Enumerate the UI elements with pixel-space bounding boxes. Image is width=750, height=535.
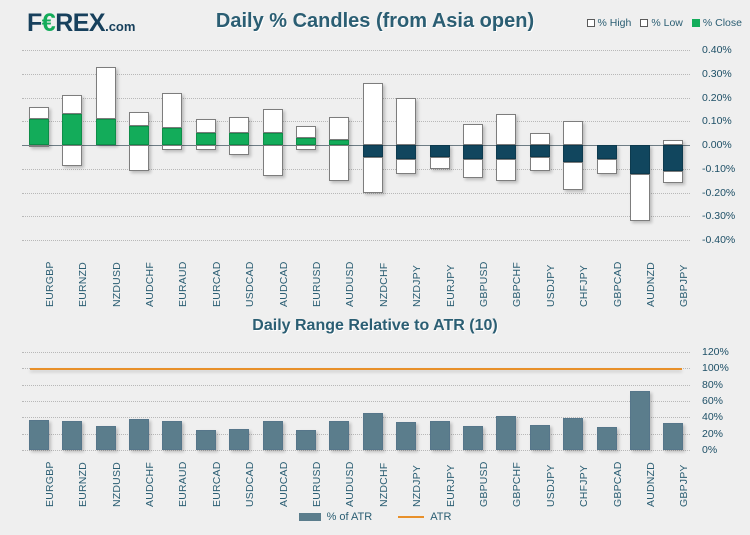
candle-close-body bbox=[597, 145, 617, 159]
candle-high-segment bbox=[496, 114, 516, 145]
candle-close-body bbox=[162, 128, 182, 145]
gridline bbox=[22, 240, 690, 241]
x-axis-label-eurjpy: EURJPY bbox=[445, 264, 457, 307]
x-axis-label-usdjpy: USDJPY bbox=[545, 464, 557, 507]
candle-high-segment bbox=[129, 112, 149, 126]
x-axis-label-nzdchf: NZDCHF bbox=[378, 263, 390, 307]
candle-low-segment bbox=[29, 145, 49, 147]
atr-bar-nzdchf bbox=[363, 413, 383, 450]
atr-bar-usdcad bbox=[229, 429, 249, 450]
candle-low-segment bbox=[463, 159, 483, 178]
candle-high-segment bbox=[196, 119, 216, 133]
candle-low-segment bbox=[630, 174, 650, 222]
atr-reference-line bbox=[30, 368, 682, 370]
y-axis-tick-label: 0.20% bbox=[702, 92, 732, 104]
atr-bar-nzdjpy bbox=[396, 422, 416, 450]
candle-close-body bbox=[229, 133, 249, 145]
candle-close-body bbox=[196, 133, 216, 145]
legend-label-pct-atr: % of ATR bbox=[327, 511, 373, 523]
candle-low-segment bbox=[196, 145, 216, 150]
y-axis-tick-label: -0.10% bbox=[702, 163, 735, 175]
candle-high-segment bbox=[263, 109, 283, 133]
legend-swatch-pct-atr-icon bbox=[299, 513, 321, 521]
atr-bar-audnzd bbox=[630, 391, 650, 450]
candle-high-segment bbox=[363, 83, 383, 145]
candle-close-body bbox=[496, 145, 516, 159]
candle-low-segment bbox=[129, 145, 149, 171]
legend-item-high: % High bbox=[587, 17, 632, 29]
y-axis-tick-label: 0.00% bbox=[702, 139, 732, 151]
candle-low-segment bbox=[597, 159, 617, 173]
candle-close-body bbox=[563, 145, 583, 162]
candle-high-segment bbox=[162, 93, 182, 129]
candle-close-body bbox=[430, 145, 450, 157]
candle-high-segment bbox=[530, 133, 550, 145]
x-axis-label-gbpjpy: GBPJPY bbox=[678, 464, 690, 507]
candle-low-segment bbox=[229, 145, 249, 155]
gridline bbox=[22, 401, 690, 402]
candle-low-segment bbox=[62, 145, 82, 166]
candle-nzdjpy bbox=[396, 50, 416, 240]
candle-audnzd bbox=[630, 50, 650, 240]
candle-low-segment bbox=[162, 145, 182, 150]
legend-swatch-high-icon bbox=[587, 19, 595, 27]
legend-label-low: % Low bbox=[651, 17, 683, 29]
candle-nzdusd bbox=[96, 50, 116, 240]
gridline bbox=[22, 352, 690, 353]
candle-high-segment bbox=[463, 124, 483, 145]
x-axis-label-usdjpy: USDJPY bbox=[545, 264, 557, 307]
y-axis-tick-label: 60% bbox=[702, 395, 723, 407]
atr-y-axis: 120%100%80%60%40%20%0% bbox=[694, 352, 750, 450]
candle-audchf bbox=[129, 50, 149, 240]
x-axis-label-audchf: AUDCHF bbox=[144, 462, 156, 507]
x-axis-label-usdcad: USDCAD bbox=[244, 261, 256, 307]
candle-nzdchf bbox=[363, 50, 383, 240]
legend-item-pct-atr: % of ATR bbox=[299, 511, 373, 523]
candle-high-segment bbox=[329, 117, 349, 141]
gridline bbox=[22, 74, 690, 75]
zero-line bbox=[22, 145, 690, 146]
candle-eurjpy bbox=[430, 50, 450, 240]
candle-gbpchf bbox=[496, 50, 516, 240]
candle-high-segment bbox=[62, 95, 82, 114]
x-axis-label-euraud: EURAUD bbox=[177, 261, 189, 307]
candle-close-body bbox=[630, 145, 650, 174]
atr-bar-gbpcad bbox=[597, 427, 617, 450]
x-axis-label-gbpcad: GBPCAD bbox=[612, 261, 624, 307]
candle-close-body bbox=[363, 145, 383, 157]
candle-close-body bbox=[463, 145, 483, 159]
legend-label-atr: ATR bbox=[430, 511, 451, 523]
gridline bbox=[22, 193, 690, 194]
atr-bar-audchf bbox=[129, 419, 149, 450]
candle-eurnzd bbox=[62, 50, 82, 240]
candle-high-segment bbox=[296, 126, 316, 138]
x-axis-label-nzdchf: NZDCHF bbox=[378, 463, 390, 507]
x-axis-label-eurnzd: EURNZD bbox=[77, 262, 89, 307]
x-axis-label-gbpjpy: GBPJPY bbox=[678, 264, 690, 307]
x-axis-label-audchf: AUDCHF bbox=[144, 262, 156, 307]
atr-bar-plot bbox=[22, 352, 690, 450]
chart-page: F€REX.com Daily % Candles (from Asia ope… bbox=[0, 0, 750, 535]
atr-bar-audusd bbox=[329, 421, 349, 450]
x-axis-label-audcad: AUDCAD bbox=[278, 461, 290, 507]
candle-high-segment bbox=[396, 98, 416, 146]
candle-audcad bbox=[263, 50, 283, 240]
x-axis-label-eurcad: EURCAD bbox=[211, 461, 223, 507]
candle-gbpcad bbox=[597, 50, 617, 240]
candle-low-segment bbox=[296, 145, 316, 150]
x-axis-label-eurnzd: EURNZD bbox=[77, 462, 89, 507]
gridline bbox=[22, 417, 690, 418]
x-axis-label-eurgbp: EURGBP bbox=[44, 261, 56, 307]
atr-bar-eurgbp bbox=[29, 420, 49, 450]
header: F€REX.com Daily % Candles (from Asia ope… bbox=[0, 0, 750, 44]
x-axis-label-usdcad: USDCAD bbox=[244, 461, 256, 507]
legend-swatch-close-icon bbox=[692, 19, 700, 27]
gridline bbox=[22, 98, 690, 99]
x-axis-label-chfjpy: CHFJPY bbox=[578, 265, 590, 307]
gridline bbox=[22, 434, 690, 435]
candle-high-segment bbox=[563, 121, 583, 145]
x-axis-label-euraud: EURAUD bbox=[177, 461, 189, 507]
x-axis-label-gbpchf: GBPCHF bbox=[511, 262, 523, 307]
candlestick-x-axis: EURGBPEURNZDNZDUSDAUDCHFEURAUDEURCADUSDC… bbox=[22, 243, 690, 311]
atr-bar-euraud bbox=[162, 421, 182, 450]
atr-bar-audcad bbox=[263, 421, 283, 450]
candle-low-segment bbox=[663, 171, 683, 183]
y-axis-tick-label: 120% bbox=[702, 346, 729, 358]
candle-low-segment bbox=[396, 159, 416, 173]
y-axis-tick-label: 0.30% bbox=[702, 68, 732, 80]
candle-close-body bbox=[530, 145, 550, 157]
x-axis-label-eurjpy: EURJPY bbox=[445, 464, 457, 507]
x-axis-label-audnzd: AUDNZD bbox=[645, 462, 657, 507]
x-axis-label-chfjpy: CHFJPY bbox=[578, 465, 590, 507]
atr-bar-gbpjpy bbox=[663, 423, 683, 450]
atr-bar-chfjpy bbox=[563, 418, 583, 450]
legend-label-close: % Close bbox=[703, 17, 742, 29]
candle-usdjpy bbox=[530, 50, 550, 240]
chart2-legend: % of ATR ATR bbox=[0, 511, 750, 523]
candle-chfjpy bbox=[563, 50, 583, 240]
x-axis-label-eurgbp: EURGBP bbox=[44, 461, 56, 507]
candle-eurcad bbox=[196, 50, 216, 240]
y-axis-tick-label: 0.40% bbox=[702, 44, 732, 56]
y-axis-tick-label: 40% bbox=[702, 411, 723, 423]
legend-swatch-low-icon bbox=[640, 19, 648, 27]
candle-eurusd bbox=[296, 50, 316, 240]
x-axis-label-nzdjpy: NZDJPY bbox=[411, 465, 423, 507]
atr-bar-gbpusd bbox=[463, 426, 483, 451]
gridline bbox=[22, 169, 690, 170]
candlestick-y-axis: 0.40%0.30%0.20%0.10%0.00%-0.10%-0.20%-0.… bbox=[694, 50, 750, 240]
x-axis-label-audnzd: AUDNZD bbox=[645, 262, 657, 307]
gridline bbox=[22, 216, 690, 217]
x-axis-label-audcad: AUDCAD bbox=[278, 261, 290, 307]
candle-low-segment bbox=[496, 159, 516, 180]
atr-bar-usdjpy bbox=[530, 425, 550, 450]
candle-close-body bbox=[396, 145, 416, 159]
candle-low-segment bbox=[563, 162, 583, 191]
x-axis-label-audusd: AUDUSD bbox=[344, 261, 356, 307]
candle-close-body bbox=[96, 119, 116, 145]
legend-item-close: % Close bbox=[692, 17, 742, 29]
legend-item-low: % Low bbox=[640, 17, 683, 29]
candle-high-segment bbox=[96, 67, 116, 119]
candle-eurgbp bbox=[29, 50, 49, 240]
x-axis-label-nzdusd: NZDUSD bbox=[111, 462, 123, 507]
candle-audusd bbox=[329, 50, 349, 240]
x-axis-label-gbpcad: GBPCAD bbox=[612, 461, 624, 507]
y-axis-tick-label: 80% bbox=[702, 379, 723, 391]
candle-gbpjpy bbox=[663, 50, 683, 240]
candle-close-body bbox=[296, 138, 316, 145]
gridline bbox=[22, 450, 690, 451]
atr-bar-eurjpy bbox=[430, 421, 450, 450]
x-axis-label-eurcad: EURCAD bbox=[211, 261, 223, 307]
x-axis-label-gbpusd: GBPUSD bbox=[478, 261, 490, 307]
candle-low-segment bbox=[263, 145, 283, 176]
y-axis-tick-label: 20% bbox=[702, 428, 723, 440]
candle-gbpusd bbox=[463, 50, 483, 240]
atr-bar-eurnzd bbox=[62, 421, 82, 450]
candle-low-segment bbox=[430, 157, 450, 169]
x-axis-label-gbpusd: GBPUSD bbox=[478, 461, 490, 507]
candle-close-body bbox=[663, 145, 683, 171]
candle-low-segment bbox=[530, 157, 550, 171]
candle-euraud bbox=[162, 50, 182, 240]
legend-swatch-atr-icon bbox=[398, 516, 424, 518]
y-axis-tick-label: 100% bbox=[702, 362, 729, 374]
candlestick-plot bbox=[22, 50, 690, 240]
gridline bbox=[22, 121, 690, 122]
atr-bar-gbpchf bbox=[496, 416, 516, 450]
y-axis-tick-label: 0% bbox=[702, 444, 717, 456]
chart2-title: Daily Range Relative to ATR (10) bbox=[0, 317, 750, 335]
candle-close-body bbox=[29, 119, 49, 145]
candle-usdcad bbox=[229, 50, 249, 240]
candle-low-segment bbox=[363, 157, 383, 193]
atr-bar-eurcad bbox=[196, 430, 216, 450]
chart1-legend: % High % Low % Close bbox=[587, 17, 742, 29]
candle-close-body bbox=[62, 114, 82, 145]
atr-bar-eurusd bbox=[296, 430, 316, 450]
atr-x-axis: EURGBPEURNZDNZDUSDAUDCHFEURAUDEURCADUSDC… bbox=[22, 453, 690, 511]
candle-high-segment bbox=[229, 117, 249, 134]
legend-item-atr: ATR bbox=[398, 511, 451, 523]
candle-high-segment bbox=[29, 107, 49, 119]
x-axis-label-nzdusd: NZDUSD bbox=[111, 262, 123, 307]
x-axis-label-eurusd: EURUSD bbox=[311, 261, 323, 307]
y-axis-tick-label: -0.40% bbox=[702, 234, 735, 246]
candle-close-body bbox=[263, 133, 283, 145]
x-axis-label-eurusd: EURUSD bbox=[311, 461, 323, 507]
candle-close-body bbox=[129, 126, 149, 145]
y-axis-tick-label: 0.10% bbox=[702, 115, 732, 127]
y-axis-tick-label: -0.30% bbox=[702, 210, 735, 222]
candle-low-segment bbox=[329, 145, 349, 181]
x-axis-label-nzdjpy: NZDJPY bbox=[411, 265, 423, 307]
gridline bbox=[22, 385, 690, 386]
atr-bar-nzdusd bbox=[96, 426, 116, 450]
legend-label-high: % High bbox=[598, 17, 632, 29]
y-axis-tick-label: -0.20% bbox=[702, 187, 735, 199]
x-axis-label-gbpchf: GBPCHF bbox=[511, 462, 523, 507]
gridline bbox=[22, 50, 690, 51]
x-axis-label-audusd: AUDUSD bbox=[344, 461, 356, 507]
